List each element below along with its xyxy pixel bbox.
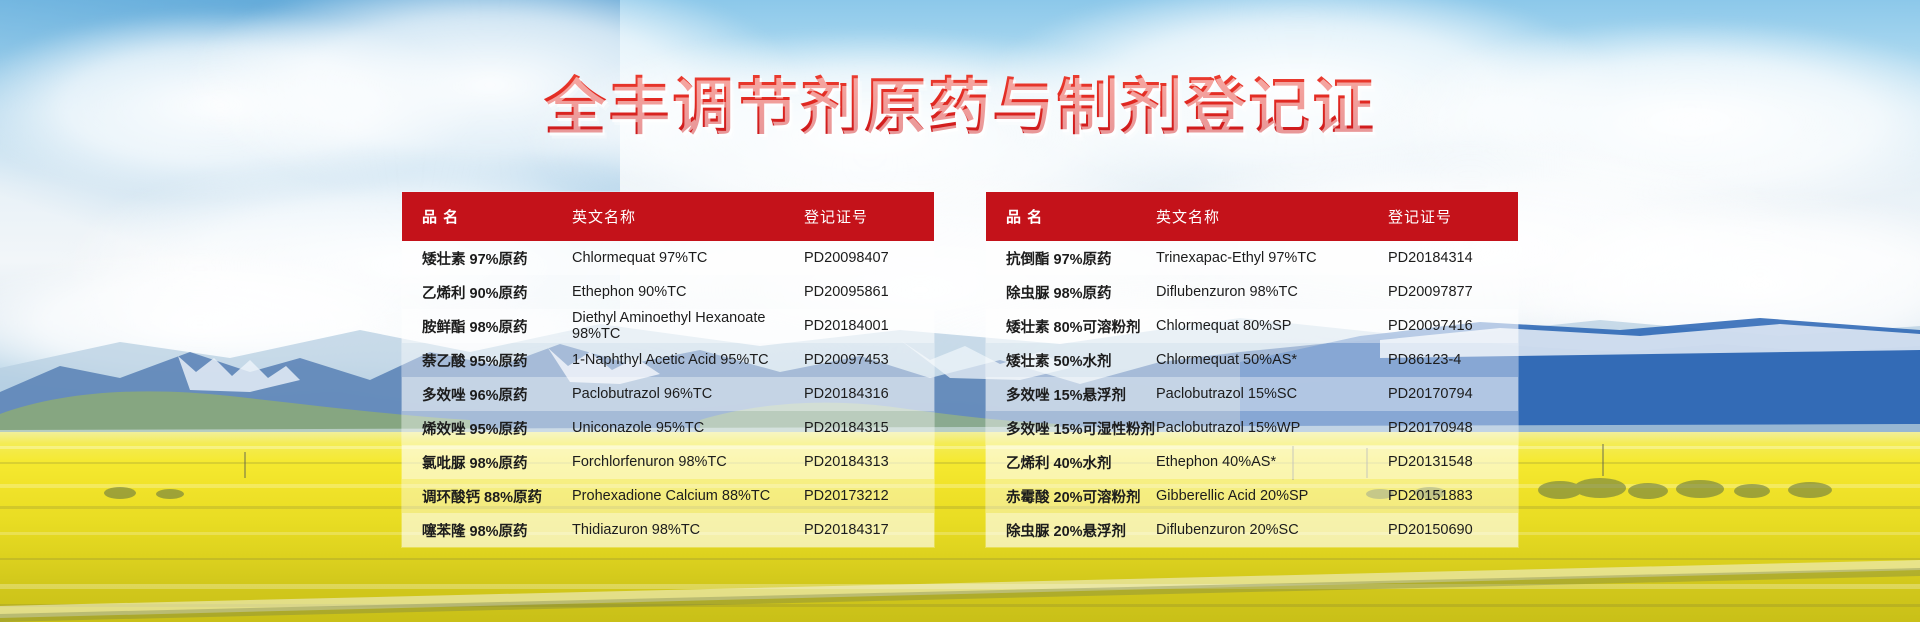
table-row: 多效唑 96%原药 Paclobutrazol 96%TC PD20184316 xyxy=(402,377,934,411)
cell-product-name: 萘乙酸 95%原药 xyxy=(402,350,572,371)
cell-product-name: 矮壮素 50%水剂 xyxy=(986,350,1156,371)
field-road xyxy=(0,540,1920,622)
cell-registration-no: PD20131548 xyxy=(1388,454,1518,470)
cell-product-name: 多效唑 96%原药 xyxy=(402,384,572,405)
cell-registration-no: PD20151883 xyxy=(1388,488,1518,504)
table-row: 乙烯利 40%水剂 Ethephon 40%AS* PD20131548 xyxy=(986,445,1518,479)
cell-registration-no: PD20184313 xyxy=(804,454,934,470)
cell-product-name: 乙烯利 40%水剂 xyxy=(986,452,1156,473)
table-row: 胺鲜酯 98%原药 Diethyl Aminoethyl Hexanoate 9… xyxy=(402,309,934,343)
table-row: 萘乙酸 95%原药 1-Naphthyl Acetic Acid 95%TC P… xyxy=(402,343,934,377)
table-body: 矮壮素 97%原药 Chlormequat 97%TC PD20098407 乙… xyxy=(402,241,934,547)
table-header-row: 品 名 英文名称 登记证号 xyxy=(986,192,1518,241)
cell-english-name: Paclobutrazol 15%WP xyxy=(1156,420,1388,436)
cell-english-name: Chlormequat 50%AS* xyxy=(1156,352,1388,368)
cell-product-name: 矮壮素 97%原药 xyxy=(402,248,572,269)
cell-registration-no: PD20097877 xyxy=(1388,284,1518,300)
cell-registration-no: PD20184317 xyxy=(804,522,934,538)
cell-product-name: 烯效唑 95%原药 xyxy=(402,418,572,439)
table-row: 乙烯利 90%原药 Ethephon 90%TC PD20095861 xyxy=(402,275,934,309)
cell-product-name: 调环酸钙 88%原药 xyxy=(402,486,572,507)
cell-product-name: 除虫脲 98%原药 xyxy=(986,282,1156,303)
cell-english-name: 1-Naphthyl Acetic Acid 95%TC xyxy=(572,352,804,368)
table-row: 赤霉酸 20%可溶粉剂 Gibberellic Acid 20%SP PD201… xyxy=(986,479,1518,513)
header-product-name: 品 名 xyxy=(402,206,572,227)
registration-tables: 品 名 英文名称 登记证号 矮壮素 97%原药 Chlormequat 97%T… xyxy=(0,192,1920,547)
cell-registration-no: PD20184001 xyxy=(804,318,934,334)
table-row: 矮壮素 50%水剂 Chlormequat 50%AS* PD86123-4 xyxy=(986,343,1518,377)
cell-registration-no: PD20097453 xyxy=(804,352,934,368)
cell-english-name: Diethyl Aminoethyl Hexanoate 98%TC xyxy=(572,310,804,342)
cell-product-name: 多效唑 15%悬浮剂 xyxy=(986,384,1156,405)
cell-product-name: 矮壮素 80%可溶粉剂 xyxy=(986,316,1156,337)
cell-product-name: 赤霉酸 20%可溶粉剂 xyxy=(986,486,1156,507)
cell-english-name: Chlormequat 97%TC xyxy=(572,250,804,266)
cell-english-name: Paclobutrazol 15%SC xyxy=(1156,386,1388,402)
cell-registration-no: PD20098407 xyxy=(804,250,934,266)
table-row: 噻苯隆 98%原药 Thidiazuron 98%TC PD20184317 xyxy=(402,513,934,547)
cell-registration-no: PD20184314 xyxy=(1388,250,1518,266)
header-english-name: 英文名称 xyxy=(572,206,804,227)
cell-english-name: Ethephon 40%AS* xyxy=(1156,454,1388,470)
cell-product-name: 抗倒酯 97%原药 xyxy=(986,248,1156,269)
cell-english-name: Uniconazole 95%TC xyxy=(572,420,804,436)
cell-product-name: 乙烯利 90%原药 xyxy=(402,282,572,303)
cell-registration-no: PD20184315 xyxy=(804,420,934,436)
header-registration-no: 登记证号 xyxy=(1388,206,1518,227)
cell-product-name: 氯吡脲 98%原药 xyxy=(402,452,572,473)
promo-banner: 全丰调节剂原药与制剂登记证 品 名 英文名称 登记证号 矮壮素 97%原药 Ch… xyxy=(0,0,1920,622)
cell-registration-no: PD20170948 xyxy=(1388,420,1518,436)
cell-registration-no: PD20095861 xyxy=(804,284,934,300)
table-body: 抗倒酯 97%原药 Trinexapac-Ethyl 97%TC PD20184… xyxy=(986,241,1518,547)
table-header-row: 品 名 英文名称 登记证号 xyxy=(402,192,934,241)
cell-english-name: Thidiazuron 98%TC xyxy=(572,522,804,538)
table-row: 调环酸钙 88%原药 Prohexadione Calcium 88%TC PD… xyxy=(402,479,934,513)
cell-registration-no: PD20184316 xyxy=(804,386,934,402)
cell-english-name: Chlormequat 80%SP xyxy=(1156,318,1388,334)
cell-english-name: Forchlorfenuron 98%TC xyxy=(572,454,804,470)
header-english-name: 英文名称 xyxy=(1156,206,1388,227)
cell-english-name: Ethephon 90%TC xyxy=(572,284,804,300)
cell-product-name: 胺鲜酯 98%原药 xyxy=(402,316,572,337)
header-product-name: 品 名 xyxy=(986,206,1156,227)
cell-registration-no: PD20170794 xyxy=(1388,386,1518,402)
right-registration-table: 品 名 英文名称 登记证号 抗倒酯 97%原药 Trinexapac-Ethyl… xyxy=(986,192,1518,547)
cell-english-name: Diflubenzuron 20%SC xyxy=(1156,522,1388,538)
table-row: 除虫脲 20%悬浮剂 Diflubenzuron 20%SC PD2015069… xyxy=(986,513,1518,547)
table-row: 除虫脲 98%原药 Diflubenzuron 98%TC PD20097877 xyxy=(986,275,1518,309)
cell-registration-no: PD20173212 xyxy=(804,488,934,504)
table-row: 烯效唑 95%原药 Uniconazole 95%TC PD20184315 xyxy=(402,411,934,445)
cell-registration-no: PD20097416 xyxy=(1388,318,1518,334)
banner-title-wrap: 全丰调节剂原药与制剂登记证 xyxy=(0,56,1920,146)
cell-product-name: 噻苯隆 98%原药 xyxy=(402,520,572,541)
left-registration-table: 品 名 英文名称 登记证号 矮壮素 97%原药 Chlormequat 97%T… xyxy=(402,192,934,547)
cell-english-name: Gibberellic Acid 20%SP xyxy=(1156,488,1388,504)
cell-english-name: Paclobutrazol 96%TC xyxy=(572,386,804,402)
table-row: 矮壮素 97%原药 Chlormequat 97%TC PD20098407 xyxy=(402,241,934,275)
page-title: 全丰调节剂原药与制剂登记证 xyxy=(544,56,1376,146)
table-row: 氯吡脲 98%原药 Forchlorfenuron 98%TC PD201843… xyxy=(402,445,934,479)
cell-product-name: 除虫脲 20%悬浮剂 xyxy=(986,520,1156,541)
cell-english-name: Prohexadione Calcium 88%TC xyxy=(572,488,804,504)
cell-english-name: Trinexapac-Ethyl 97%TC xyxy=(1156,250,1388,266)
table-row: 抗倒酯 97%原药 Trinexapac-Ethyl 97%TC PD20184… xyxy=(986,241,1518,275)
header-registration-no: 登记证号 xyxy=(804,206,934,227)
cell-product-name: 多效唑 15%可湿性粉剂 xyxy=(986,418,1156,439)
cell-english-name: Diflubenzuron 98%TC xyxy=(1156,284,1388,300)
table-row: 多效唑 15%可湿性粉剂 Paclobutrazol 15%WP PD20170… xyxy=(986,411,1518,445)
cell-registration-no: PD86123-4 xyxy=(1388,352,1518,368)
cell-registration-no: PD20150690 xyxy=(1388,522,1518,538)
table-row: 多效唑 15%悬浮剂 Paclobutrazol 15%SC PD2017079… xyxy=(986,377,1518,411)
table-row: 矮壮素 80%可溶粉剂 Chlormequat 80%SP PD20097416 xyxy=(986,309,1518,343)
